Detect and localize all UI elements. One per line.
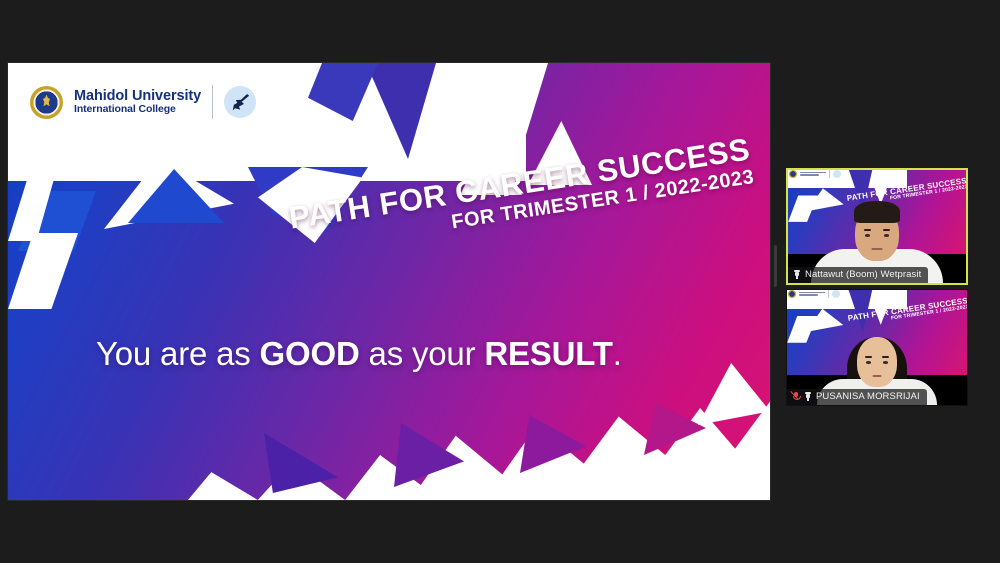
pin-icon <box>793 270 801 279</box>
participant-tile-nattawut[interactable]: PATH FOR CAREER SUCCESS FOR TRIMESTER 1 … <box>786 168 968 285</box>
video-feed: PATH FOR CAREER SUCCESS FOR TRIMESTER 1 … <box>787 290 967 405</box>
brand-text: Mahidol University International College <box>74 88 201 116</box>
university-name: Mahidol University <box>74 88 201 104</box>
quote-part-3: . <box>613 335 622 372</box>
quote-part-1: You are as <box>96 335 260 372</box>
logo-divider <box>212 85 213 119</box>
pin-icon <box>804 392 812 401</box>
participant-name-strip: Nattawut (Boom) Wetprasit <box>788 267 928 283</box>
participant-tile-pusanisa[interactable]: PATH FOR CAREER SUCCESS FOR TRIMESTER 1 … <box>786 289 968 406</box>
shared-screen-slide[interactable]: Mahidol University International College… <box>8 63 770 500</box>
rail-scroll-handle[interactable] <box>774 245 777 287</box>
meeting-screen: Mahidol University International College… <box>0 0 1000 563</box>
participant-name: PUSANISA MORSRIJAI <box>816 391 920 402</box>
quote-part-2: as your <box>360 335 485 372</box>
quote-emphasis-result: RESULT <box>484 335 612 372</box>
faculty-name: International College <box>74 104 201 116</box>
slide-logo-bar: Mahidol University International College <box>30 85 256 119</box>
mahidol-ic-athlete-icon <box>224 86 256 118</box>
participant-name-strip: PUSANISA MORSRIJAI <box>787 389 927 405</box>
person-head <box>857 337 897 387</box>
participant-name: Nattawut (Boom) Wetprasit <box>805 269 921 280</box>
person-hair <box>854 201 900 223</box>
participant-video-person <box>787 290 967 405</box>
slide-quote: You are as GOOD as your RESULT. <box>96 335 622 373</box>
microphone-muted-icon <box>792 392 800 402</box>
quote-emphasis-good: GOOD <box>260 335 360 372</box>
mahidol-seal-icon <box>30 86 63 119</box>
